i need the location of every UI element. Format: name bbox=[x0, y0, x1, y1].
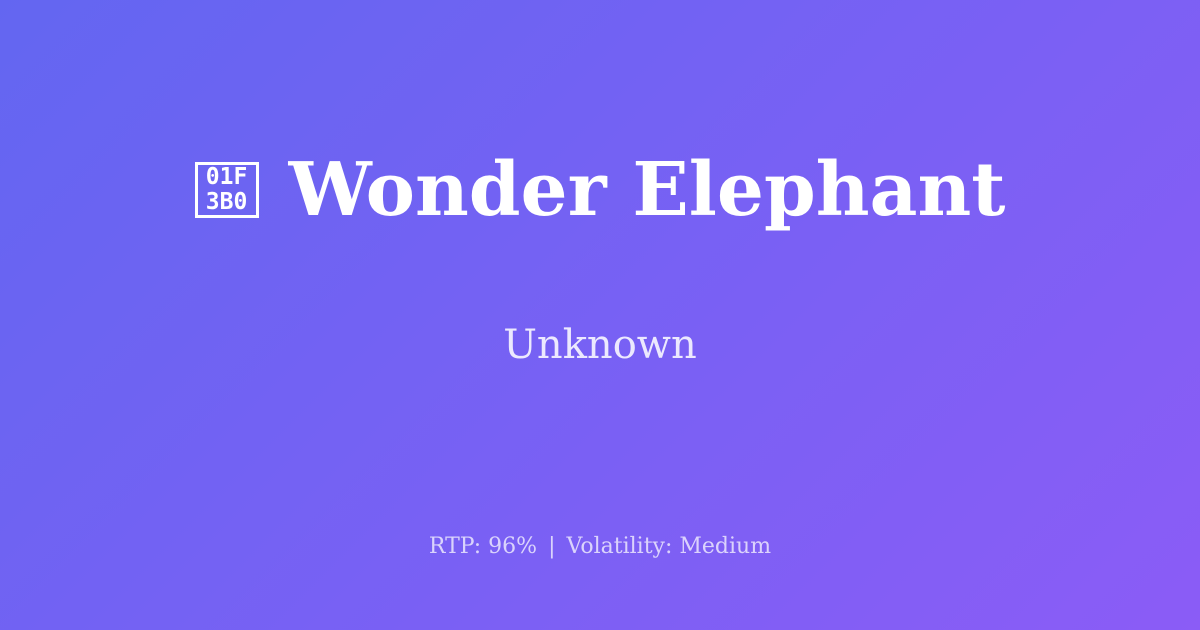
volatility-value: Volatility: Medium bbox=[567, 534, 772, 559]
slot-machine-icon: 01F 3B0 bbox=[195, 162, 259, 218]
rtp-value: RTP: 96% bbox=[429, 534, 537, 559]
page-subtitle: Unknown bbox=[503, 323, 697, 367]
hero-content: 01F 3B0 Wonder Elephant Unknown bbox=[0, 0, 1200, 470]
game-meta-line: RTP: 96% | Volatility: Medium bbox=[0, 534, 1200, 560]
slot-machine-icon-codepoint-lower: 3B0 bbox=[206, 190, 248, 215]
meta-separator: | bbox=[544, 534, 559, 559]
og-card: 01F 3B0 Wonder Elephant Unknown RTP: 96%… bbox=[0, 0, 1200, 630]
title-row: 01F 3B0 Wonder Elephant bbox=[40, 103, 1160, 276]
slot-machine-icon-codepoint-upper: 01F bbox=[206, 165, 248, 190]
page-title: Wonder Elephant bbox=[289, 153, 1006, 227]
